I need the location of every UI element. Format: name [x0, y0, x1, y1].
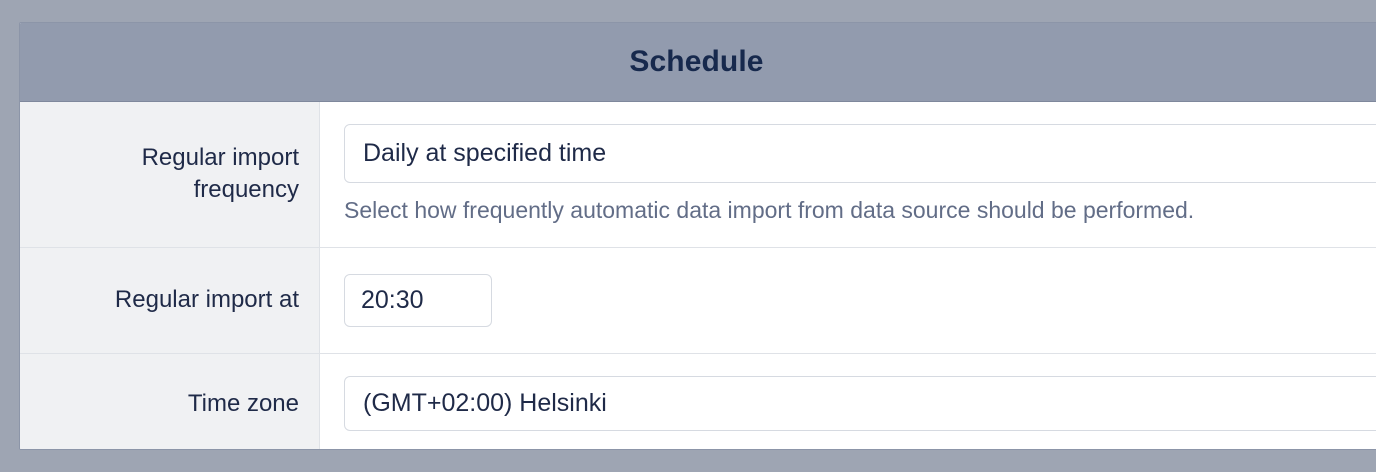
schedule-form: Regular import frequency Daily at specif… — [20, 102, 1376, 450]
page-title: Schedule — [629, 47, 763, 77]
page-background-bottom — [0, 451, 1376, 472]
field-regular-import-frequency: Daily at specified time Select how frequ… — [320, 102, 1376, 247]
page-background-left — [0, 0, 19, 472]
input-regular-import-at[interactable]: 20:30 — [344, 274, 492, 327]
form-row-regular-import-frequency: Regular import frequency Daily at specif… — [20, 102, 1376, 248]
select-time-zone[interactable]: (GMT+02:00) Helsinki — [344, 376, 1376, 431]
label-time-zone: Time zone — [20, 354, 320, 450]
field-time-zone: (GMT+02:00) Helsinki — [320, 354, 1376, 450]
select-regular-import-frequency[interactable]: Daily at specified time — [344, 124, 1376, 183]
schedule-panel: Schedule Regular import frequency Daily … — [19, 22, 1376, 450]
page-background-top — [0, 0, 1376, 22]
page-viewport: Schedule Regular import frequency Daily … — [0, 0, 1376, 472]
form-row-regular-import-at: Regular import at 20:30 — [20, 248, 1376, 354]
label-regular-import-at: Regular import at — [20, 248, 320, 353]
field-regular-import-at: 20:30 — [320, 248, 1376, 353]
help-regular-import-frequency: Select how frequently automatic data imp… — [344, 196, 1376, 225]
label-regular-import-frequency: Regular import frequency — [20, 102, 320, 247]
form-row-time-zone: Time zone (GMT+02:00) Helsinki — [20, 354, 1376, 450]
panel-header: Schedule — [20, 23, 1376, 102]
